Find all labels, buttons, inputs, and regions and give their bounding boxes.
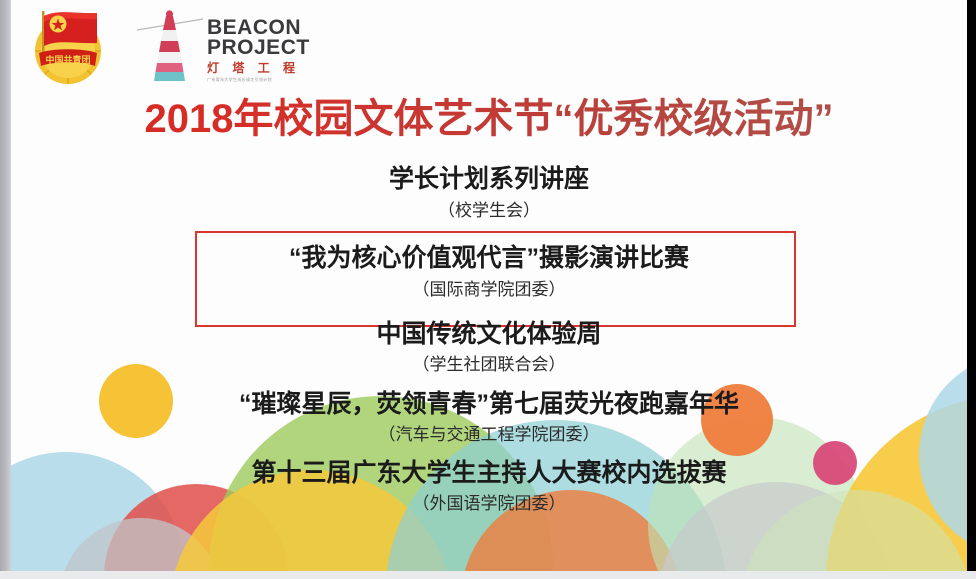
program-title: 中国传统文化体验周 (11, 318, 967, 351)
frame-right-edge (967, 0, 976, 579)
program-organizer: （汽车与交通工程学院团委） (11, 421, 967, 449)
program-organizer: （校学生会） (11, 197, 967, 225)
slide-frame: 中国共青团 (0, 0, 976, 579)
emblem-chinese-text: 中国共青团 (45, 54, 90, 65)
program-organizer: （学生社团联合会） (11, 351, 967, 379)
program-title: “璀璨星辰，荧领青春”第七届荧光夜跑嘉年华 (11, 388, 967, 421)
beacon-english-line2: PROJECT (207, 38, 357, 58)
list-item: 学长计划系列讲座 （校学生会） (11, 163, 967, 225)
program-title: 第十三届广东大学生主持人大赛校内选拔赛 (11, 457, 967, 490)
frame-left-edge (0, 0, 11, 579)
list-item: 中国传统文化体验周 （学生社团联合会） (11, 318, 967, 379)
page-title: 2018年校园文体艺术节“优秀校级活动” (11, 96, 967, 142)
program-title: 学长计划系列讲座 (11, 163, 967, 196)
beacon-english-line1: BEACON (207, 18, 357, 38)
frame-bottom-edge (0, 571, 976, 579)
slide-canvas: 中国共青团 (11, 0, 967, 572)
beacon-wordmark: BEACON PROJECT 灯 塔 工 程 广东青年大学生成长成才引领计划 (207, 18, 357, 83)
program-organizer: （国际商学院团委） (11, 276, 967, 304)
beacon-chinese: 灯 塔 工 程 (207, 62, 357, 75)
beacon-project-logo: BEACON PROJECT 灯 塔 工 程 广东青年大学生成长成才引领计划 (135, 8, 357, 86)
program-title: “我为核心价值观代言”摄影演讲比赛 (11, 242, 967, 275)
list-item-highlighted: “我为核心价值观代言”摄影演讲比赛 （国际商学院团委） (11, 233, 967, 308)
list-item: “璀璨星辰，荧领青春”第七届荧光夜跑嘉年华 （汽车与交通工程学院团委） (11, 388, 967, 449)
communist-youth-league-emblem-icon: 中国共青团 (25, 3, 111, 89)
logo-bar: 中国共青团 (19, 3, 357, 91)
program-organizer: （外国语学院团委） (11, 490, 967, 518)
program-list: 学长计划系列讲座 （校学生会） “我为核心价值观代言”摄影演讲比赛 （国际商学院… (11, 163, 967, 518)
beacon-lighthouse-icon (135, 8, 207, 86)
beacon-subtitle: 广东青年大学生成长成才引领计划 (207, 77, 350, 83)
list-item: 第十三届广东大学生主持人大赛校内选拔赛 （外国语学院团委） (11, 457, 967, 518)
